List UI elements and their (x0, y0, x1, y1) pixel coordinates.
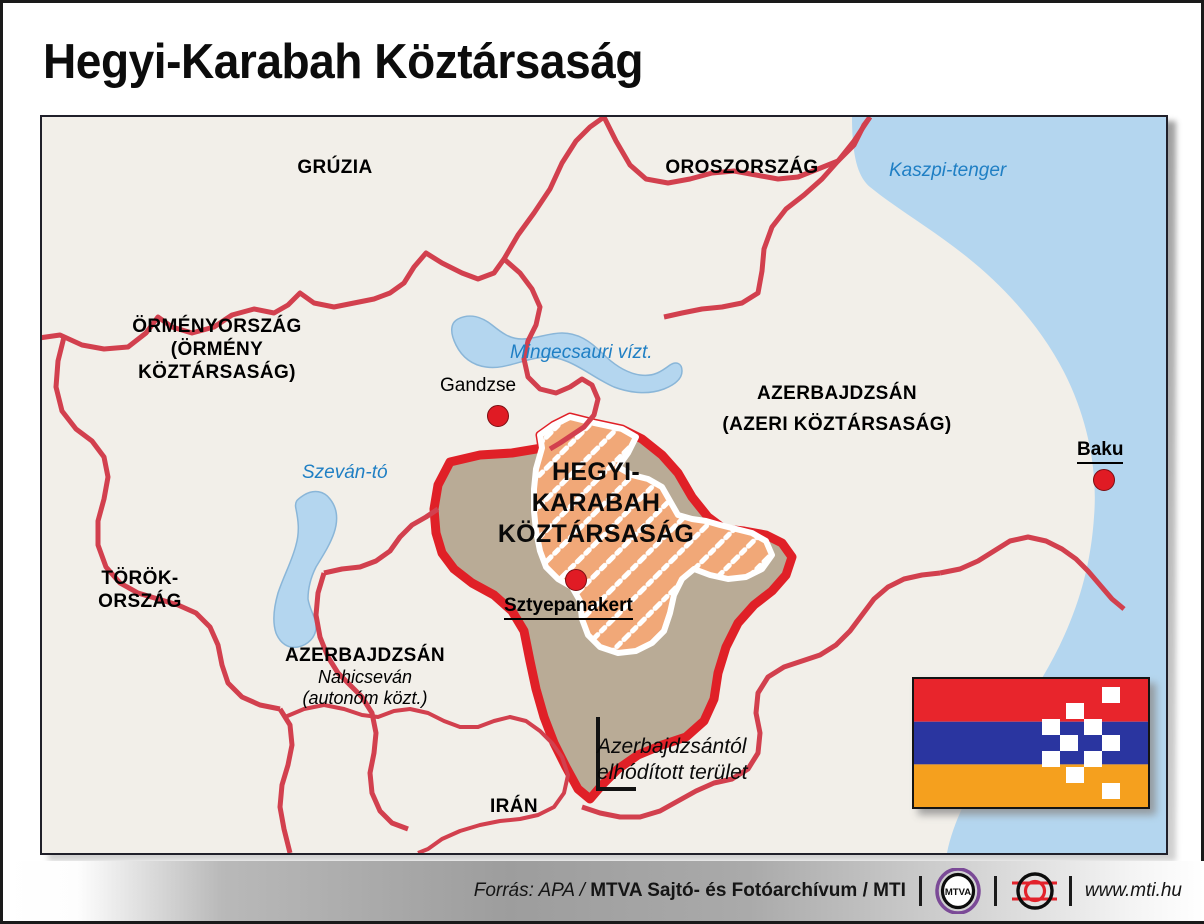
label-nkr-line3: KÖZTÁRSASÁG (476, 519, 716, 550)
label-nkr-line2: KARABAH (476, 488, 716, 519)
mtva-logo-text: MTVA (945, 887, 971, 898)
divider-2 (994, 876, 997, 906)
source-bold: MTVA Sajtó- és Fotóarchívum / MTI (590, 880, 906, 901)
label-nkr-line1: HEGYI- (476, 457, 716, 488)
mti-logo (1010, 870, 1056, 912)
label-azerbaijan-line1: AZERBAJDZSÁN (692, 382, 982, 405)
label-nakhchivan-line2: Nahicseván (250, 667, 480, 688)
source-prefix: Forrás: APA / (474, 880, 591, 901)
mtva-logo-icon: MTVA (935, 868, 981, 914)
label-iran: IRÁN (454, 796, 574, 818)
label-nakhchivan-line3: (autonóm közt.) (250, 688, 480, 709)
label-turkey-line2: ORSZÁG (70, 590, 210, 613)
footer-content: Forrás: APA / MTVA Sajtó- és Fotóarchívu… (6, 861, 1204, 921)
callout-line2: elhódított terület (597, 760, 897, 786)
website-url: www.mti.hu (1085, 880, 1182, 902)
label-azerbaijan-line2: (AZERI KÖZTÁRSASÁG) (692, 413, 982, 436)
label-lake-sevan: Szeván-tó (302, 462, 388, 484)
source-credit: Forrás: APA / MTVA Sajtó- és Fotóarchívu… (474, 880, 906, 902)
city-dot-stepanakert (565, 569, 587, 591)
footer-bar: Forrás: APA / MTVA Sajtó- és Fotóarchívu… (6, 861, 1204, 921)
label-turkey: TÖRÖK- ORSZÁG (70, 567, 210, 613)
label-nakhchivan-line1: AZERBAJDZSÁN (250, 645, 480, 667)
label-nagorno-karabakh-republic: HEGYI- KARABAH KÖZTÁRSASÁG (476, 457, 716, 550)
label-russia: OROSZORSZÁG (632, 157, 852, 179)
label-mingechaur-reservoir: Mingecsauri vízt. (510, 342, 653, 364)
callout-occupied-territory: Azerbajdzsántól elhódított terület (597, 734, 897, 786)
infographic-frame: Hegyi-Karabah Köztársaság (0, 0, 1204, 924)
label-caspian-sea: Kaszpi-tenger (889, 160, 1006, 182)
city-dot-gandzse (487, 405, 509, 427)
flag-graphic (914, 679, 1148, 807)
label-armenia-line1: ÖRMÉNYORSZÁG (102, 315, 332, 338)
label-azerbaijan: AZERBAJDZSÁN (AZERI KÖZTÁRSASÁG) (692, 382, 982, 436)
label-city-stepanakert: Sztyepanakert (504, 595, 633, 620)
label-armenia-line3: KÖZTÁRSASÁG) (102, 361, 332, 384)
label-city-baku: Baku (1077, 439, 1123, 464)
flag-nagorno-karabakh (912, 677, 1150, 809)
mtva-logo: MTVA (935, 868, 981, 914)
label-city-gandzse: Gandzse (440, 375, 516, 397)
divider-3 (1069, 876, 1072, 906)
city-dot-baku (1093, 469, 1115, 491)
map-panel: GRÚZIA OROSZORSZÁG Kaszpi-tenger ÖRMÉNYO… (40, 115, 1168, 855)
label-nakhchivan: AZERBAJDZSÁN Nahicseván (autonóm közt.) (250, 645, 480, 709)
divider-1 (919, 876, 922, 906)
mti-logo-icon (1010, 870, 1060, 912)
label-turkey-line1: TÖRÖK- (70, 567, 210, 590)
spacer (692, 405, 982, 413)
label-armenia-line2: (ÖRMÉNY (102, 338, 332, 361)
label-georgia: GRÚZIA (255, 157, 415, 179)
page-title: Hegyi-Karabah Köztársaság (43, 31, 889, 93)
label-armenia: ÖRMÉNYORSZÁG (ÖRMÉNY KÖZTÁRSASÁG) (102, 315, 332, 384)
callout-line1: Azerbajdzsántól (597, 734, 897, 760)
